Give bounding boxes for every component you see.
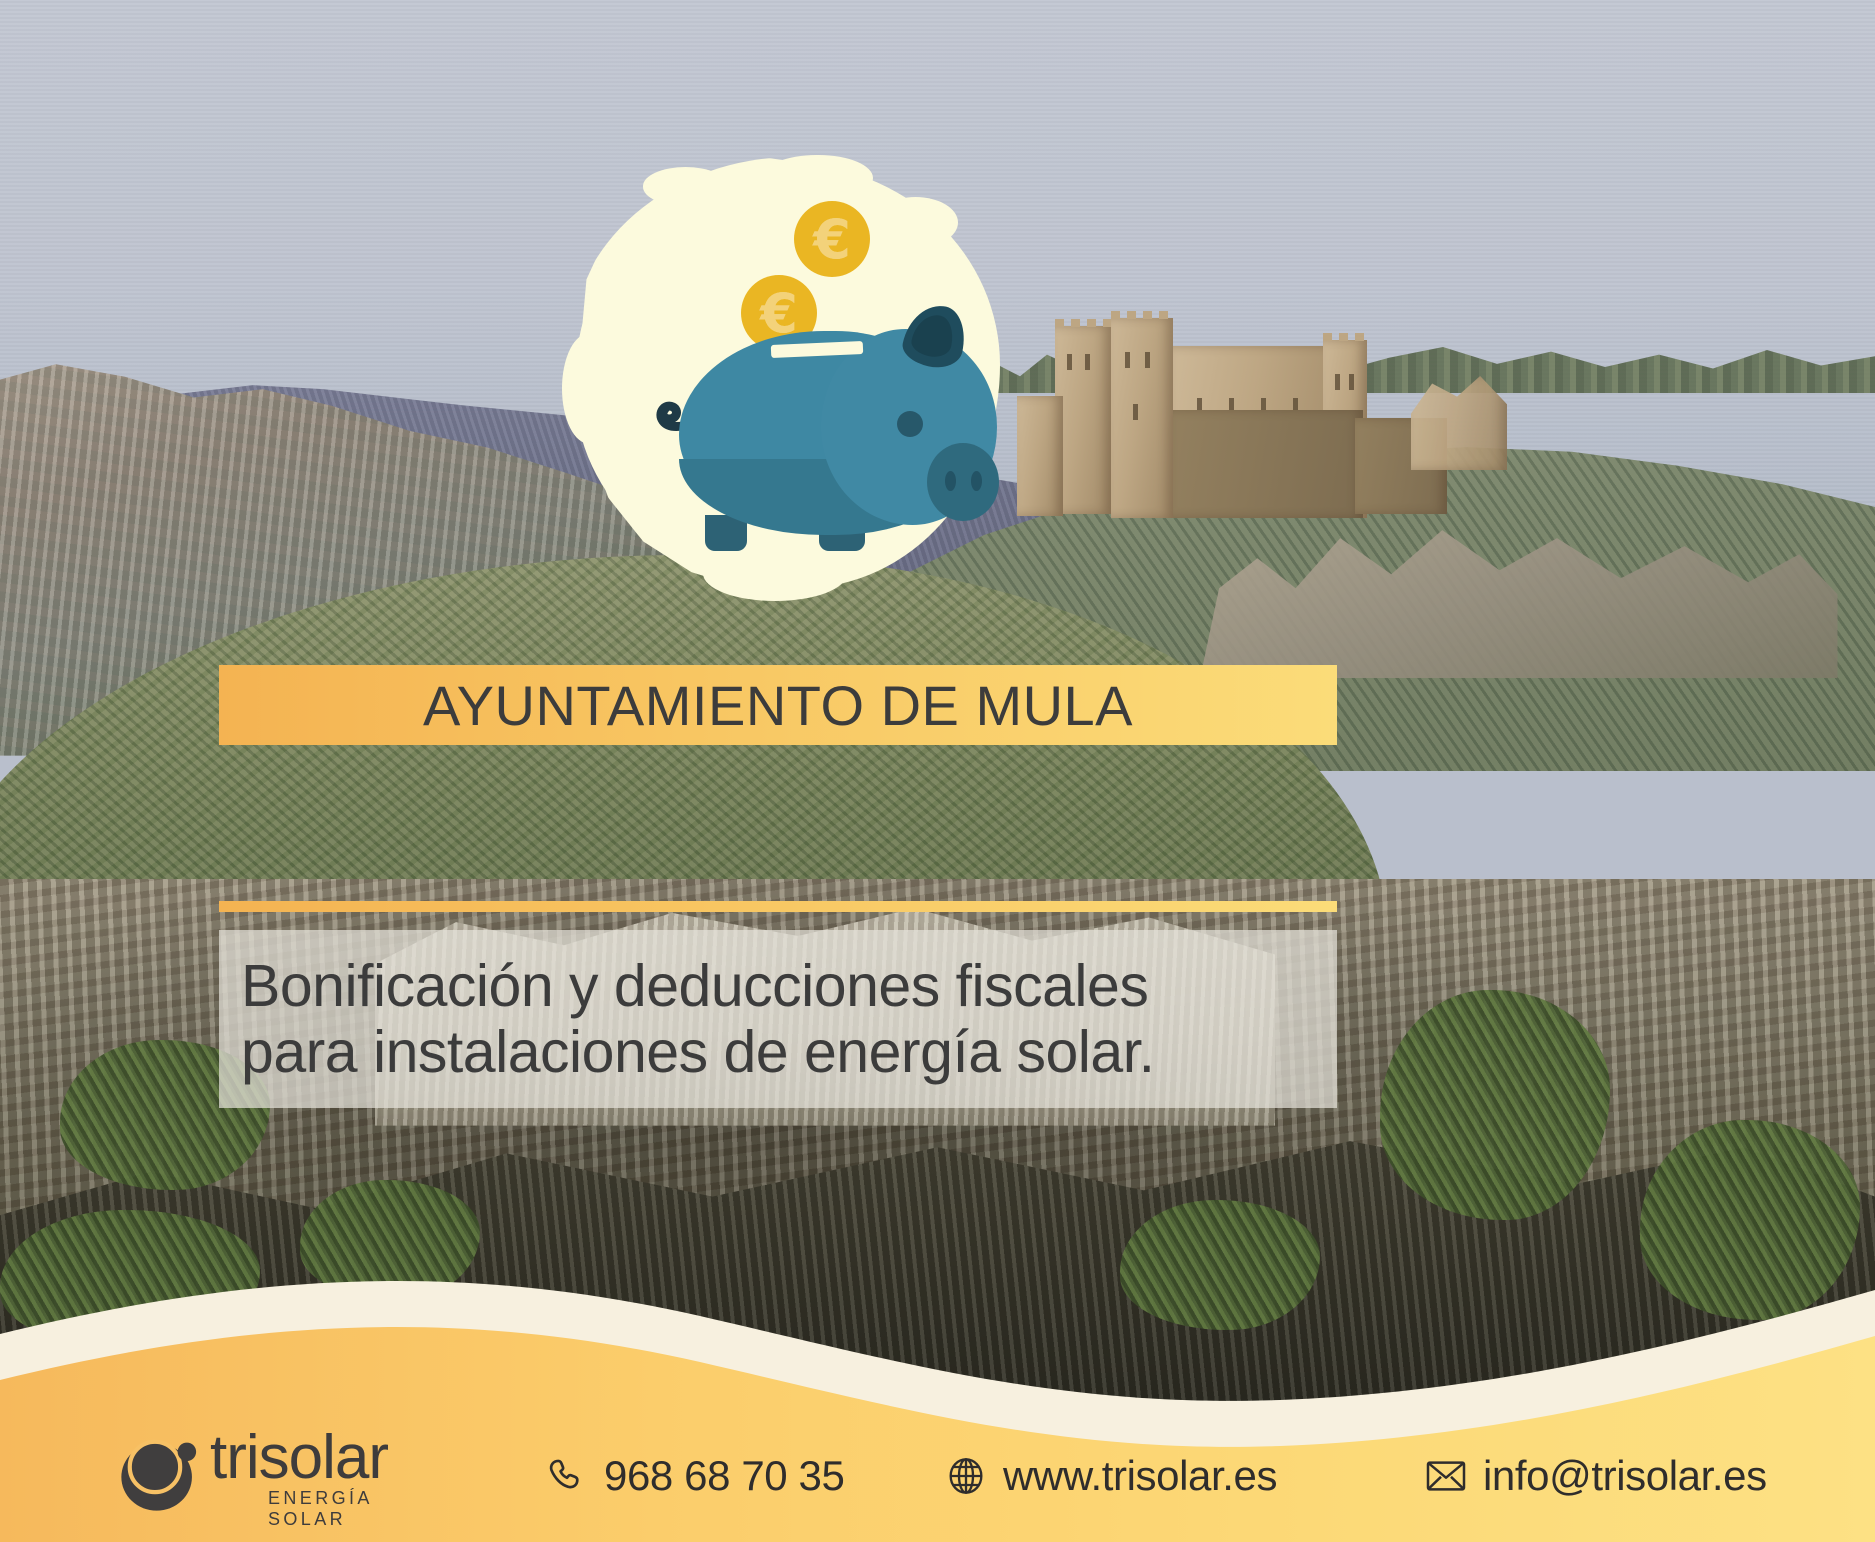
subtitle-line-1: Bonificación y deducciones fiscales xyxy=(241,953,1315,1019)
contact-phone[interactable]: 968 68 70 35 xyxy=(546,1452,844,1500)
castle-ruins xyxy=(1055,318,1535,548)
subtitle-line-2: para instalaciones de energía solar. xyxy=(241,1019,1315,1085)
phone-icon xyxy=(546,1455,588,1497)
title-banner: AYUNTAMIENTO DE MULA xyxy=(219,665,1337,745)
phone-number: 968 68 70 35 xyxy=(604,1452,844,1500)
piggy-eye xyxy=(897,411,923,437)
footer-contact-row: trisolar ENERGÍA SOLAR 968 68 70 35 xyxy=(0,1402,1875,1542)
trisolar-logo-icon xyxy=(118,1430,202,1514)
contact-email[interactable]: info@trisolar.es xyxy=(1425,1452,1767,1500)
email-address: info@trisolar.es xyxy=(1483,1452,1767,1500)
poster-canvas: € € € AYUNTAMIENTO DE MULA Bonificación … xyxy=(0,0,1875,1542)
trisolar-tagline: ENERGÍA SOLAR xyxy=(268,1488,418,1530)
piggy-bank-badge: € € € xyxy=(575,163,1000,588)
trisolar-wordmark: trisolar xyxy=(210,1422,388,1493)
shrub xyxy=(1380,990,1610,1220)
subtitle-panel: Bonificación y deducciones fiscales para… xyxy=(219,930,1337,1108)
euro-symbol: € xyxy=(813,208,851,271)
euro-coin-icon: € xyxy=(794,201,870,277)
globe-icon xyxy=(945,1455,987,1497)
trisolar-logo[interactable]: trisolar ENERGÍA SOLAR xyxy=(118,1424,418,1520)
website-url: www.trisolar.es xyxy=(1003,1452,1277,1500)
piggy-snout xyxy=(927,443,999,521)
envelope-icon xyxy=(1425,1455,1467,1497)
contact-website[interactable]: www.trisolar.es xyxy=(945,1452,1277,1500)
gold-divider-rule xyxy=(219,901,1337,912)
page-title: AYUNTAMIENTO DE MULA xyxy=(423,673,1133,738)
